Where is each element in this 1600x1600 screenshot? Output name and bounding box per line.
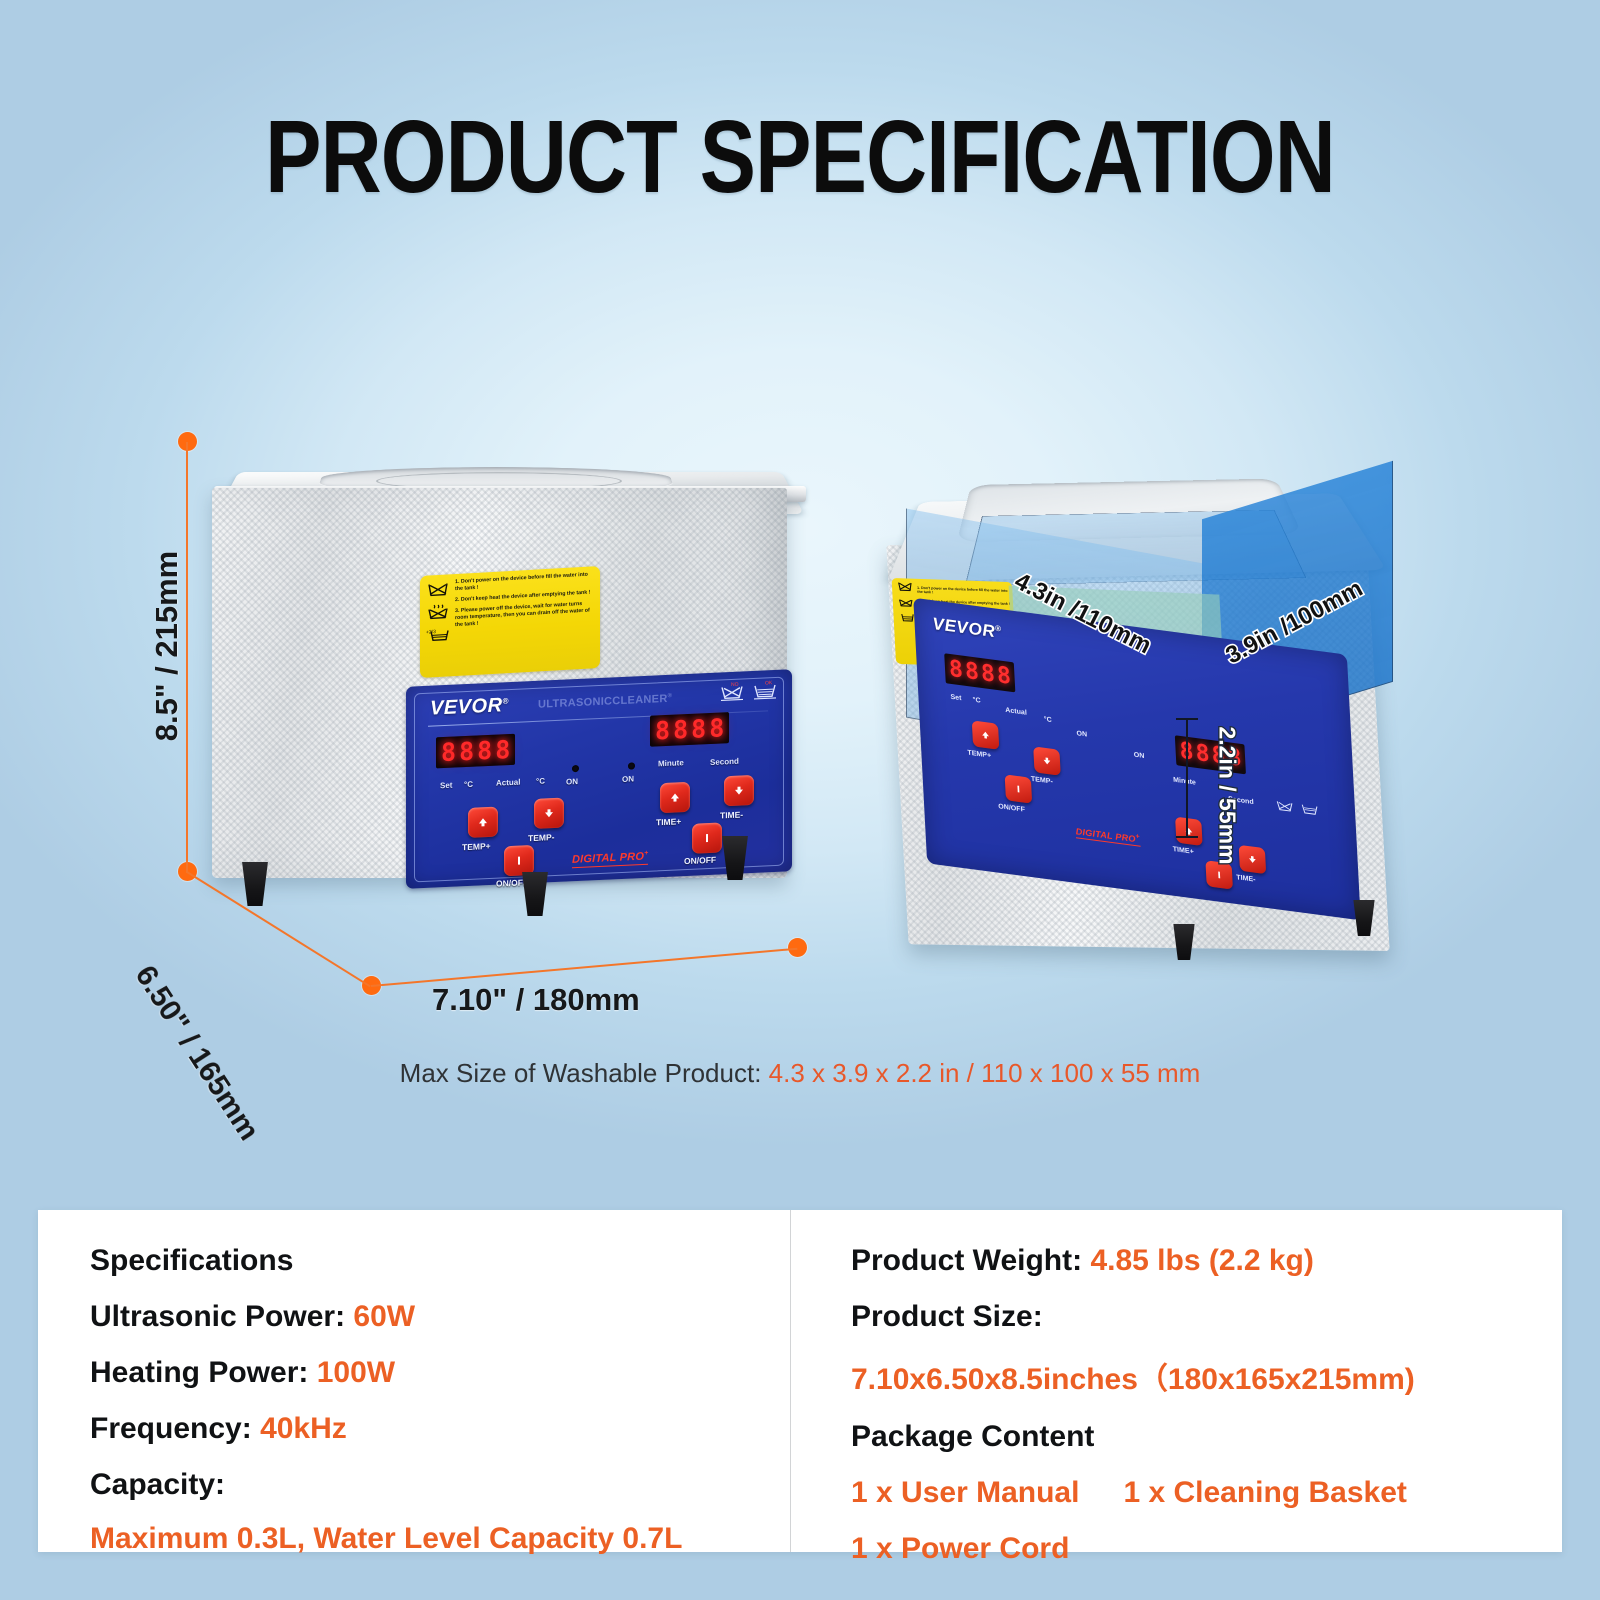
label-actual-right: Actual: [1005, 707, 1027, 717]
arrow-down-icon: [733, 784, 745, 797]
label-actual-unit-right: °C: [1044, 716, 1052, 724]
tank-depth-tick-top: [1176, 718, 1198, 720]
arrow-up-icon: [669, 791, 681, 804]
warning-text: 1. Don't power on the device before fill…: [455, 571, 596, 676]
product-weight-label: Product Weight:: [851, 1244, 1082, 1277]
product-size-label: Product Size:: [851, 1300, 1562, 1334]
specs-column-right: Product Weight: 4.85 lbs (2.2 kg) Produc…: [790, 1210, 1562, 1552]
panel-basket-icons-right: [1275, 796, 1320, 818]
label-actual: Actual: [496, 778, 520, 788]
label-on-left-right: ON: [1076, 730, 1087, 738]
power-left-label-right: ON/OFF: [998, 803, 1025, 814]
timer-digit-2-right: 8: [1195, 740, 1210, 768]
label-set: Set: [440, 781, 452, 791]
water-level-basket-icon: [898, 611, 915, 623]
frequency-row: Frequency: 40kHz: [90, 1412, 790, 1446]
arrow-up-icon: [980, 729, 991, 740]
label-set-unit-right: °C: [973, 697, 981, 705]
brand-logo-right: VEVOR®: [932, 614, 1002, 643]
temp-up-button-right[interactable]: [972, 720, 1000, 749]
time-up-label-right: TIME+: [1173, 846, 1194, 856]
label-on-left: ON: [566, 777, 578, 787]
capacity-label: Capacity:: [90, 1468, 790, 1502]
ok-basket-panel-icon: OK: [752, 678, 778, 701]
package-item-2: 1 x Power Cord: [851, 1532, 1562, 1566]
label-on-right: ON: [622, 774, 634, 784]
capacity-value: Maximum 0.3L, Water Level Capacity 0.7L: [90, 1522, 790, 1556]
temp-digit-1: 8: [441, 739, 456, 765]
depth-dimension-label: 6.50" / 165mm: [128, 960, 266, 1147]
warning-line-3: 3. Please power off the device, wait for…: [455, 600, 596, 629]
label-minute: Minute: [658, 758, 684, 768]
right-product-image: 1. Don't power on the device before fill…: [880, 368, 1440, 1048]
tank-body: +2/3 1. Don't power on the device before…: [212, 488, 787, 878]
time-down-button[interactable]: [724, 775, 754, 806]
temperature-display: 8 8 8 8: [436, 734, 515, 769]
width-dimension-label: 7.10" / 180mm: [432, 982, 640, 1018]
warning-icon-group: +2/3: [424, 579, 452, 678]
product-weight-row: Product Weight: 4.85 lbs (2.2 kg): [851, 1244, 1562, 1278]
power-right-label: ON/OFF: [684, 855, 716, 866]
ok-basket-panel-icon: [1300, 799, 1320, 818]
package-item-0: 1 x User Manual: [851, 1476, 1079, 1510]
product-type-label: ULTRASONICCLEANER®: [538, 693, 672, 711]
ultrasonic-power-row: Ultrasonic Power: 60W: [90, 1300, 790, 1334]
no-basket-panel-icon: NO: [719, 679, 745, 702]
temp-up-label-right: TEMP+: [967, 750, 991, 760]
foot-left: [238, 862, 272, 906]
power-icon: [1214, 869, 1225, 880]
power-icon: [701, 832, 713, 845]
label-on-right-right: ON: [1134, 752, 1145, 760]
power-left-button[interactable]: [504, 845, 534, 876]
tank-depth-line: [1186, 718, 1188, 836]
temp-down-button[interactable]: [534, 798, 564, 829]
heating-power-label: Heating Power:: [90, 1356, 308, 1389]
temp-down-label: TEMP-: [528, 832, 554, 843]
power-icon: [513, 854, 525, 867]
caption-value: 4.3 x 3.9 x 2.2 in / 110 x 100 x 55 mm: [769, 1058, 1201, 1088]
svg-text:NO: NO: [731, 682, 739, 688]
specs-heading: Specifications: [90, 1244, 790, 1278]
arrow-down-icon: [1042, 755, 1053, 766]
time-up-button[interactable]: [660, 782, 690, 813]
product-size-value: 7.10x6.50x8.5inches（180x165x215mm): [851, 1354, 1562, 1398]
ultrasonic-power-label: Ultrasonic Power:: [90, 1300, 345, 1333]
label-actual-unit: °C: [536, 776, 545, 785]
power-icon: [1013, 783, 1024, 794]
ultrasonic-power-value: 60W: [353, 1300, 415, 1333]
no-heat-basket-icon: [427, 603, 449, 620]
series-badge: DIGITAL PRO+: [572, 850, 648, 868]
power-right-button-right[interactable]: [1205, 860, 1233, 889]
tank-depth-label: 2.2in / 55mm: [1214, 726, 1241, 864]
temp-digit-2: 8: [459, 739, 474, 765]
foot-center: [518, 872, 552, 916]
package-content-heading: Package Content: [851, 1420, 1562, 1454]
series-badge-right: DIGITAL PRO+: [1075, 825, 1140, 846]
no-basket-icon: [427, 581, 449, 598]
ultrasonic-indicator-led: [628, 762, 635, 769]
label-set-unit: °C: [464, 780, 473, 789]
timer-digit-4: 8: [709, 715, 724, 741]
temp-up-button[interactable]: [468, 807, 498, 838]
heat-indicator-led: [572, 765, 579, 772]
temp-up-label: TEMP+: [462, 841, 491, 852]
warning-line-1-right: 1. Don't power on the device before fill…: [917, 585, 1010, 598]
temp-digit-4: 8: [495, 737, 510, 763]
temp-digit-4-right: 8: [996, 662, 1011, 690]
timer-digit-2: 8: [673, 717, 688, 743]
time-down-label-right: TIME-: [1236, 874, 1256, 884]
temperature-display-right: 8 8 8 8: [944, 653, 1016, 692]
package-items-row-1: 1 x User Manual 1 x Cleaning Basket: [851, 1476, 1562, 1510]
frequency-label: Frequency:: [90, 1412, 252, 1445]
timer-digit-3: 8: [691, 716, 706, 742]
time-up-button-right[interactable]: [1175, 817, 1203, 846]
no-basket-panel-icon: [1275, 796, 1295, 815]
temp-digit-3: 8: [477, 738, 492, 764]
panel-basket-icons: NO OK: [719, 678, 778, 703]
temp-digit-2-right: 8: [964, 658, 979, 686]
time-down-label: TIME-: [720, 809, 743, 820]
no-heat-basket-icon: [898, 596, 915, 608]
no-basket-icon: [897, 581, 914, 593]
specifications-panel: Specifications Ultrasonic Power: 60W Hea…: [38, 1210, 1562, 1552]
height-dimension-line: [186, 442, 188, 873]
temp-digit-3-right: 8: [980, 660, 995, 688]
washable-size-caption: Max Size of Washable Product: 4.3 x 3.9 …: [0, 1058, 1600, 1089]
arrow-up-icon: [477, 816, 489, 829]
height-dimension-label: 8.5" / 215mm: [149, 551, 185, 741]
arrow-down-icon: [1247, 854, 1258, 865]
label-set-right: Set: [950, 694, 961, 702]
label-second: Second: [710, 757, 739, 767]
time-down-button-right[interactable]: [1239, 845, 1267, 874]
package-item-1: 1 x Cleaning Basket: [1123, 1476, 1406, 1510]
heating-power-value: 100W: [317, 1356, 395, 1389]
timer-digit-1: 8: [655, 718, 670, 744]
power-right-button[interactable]: [692, 822, 722, 853]
power-left-button-right[interactable]: [1005, 774, 1033, 803]
svg-text:OK: OK: [765, 680, 773, 686]
page-title: PRODUCT SPECIFICATION: [144, 98, 1456, 216]
product-weight-value: 4.85 lbs (2.2 kg): [1090, 1244, 1313, 1277]
heating-power-row: Heating Power: 100W: [90, 1356, 790, 1390]
temp-digit-1-right: 8: [948, 656, 963, 684]
label-minute-right: Minute: [1173, 777, 1196, 787]
tank-depth-tick-bottom: [1176, 836, 1198, 838]
timer-display: 8 8 8 8: [650, 712, 729, 747]
left-product-image: +2/3 1. Don't power on the device before…: [196, 430, 808, 950]
brand-logo: VEVOR®: [430, 694, 509, 721]
time-up-label: TIME+: [656, 816, 681, 827]
water-level-basket-icon: +2/3: [426, 625, 450, 642]
product-specification-page: PRODUCT SPECIFICATION: [0, 0, 1600, 1600]
frequency-value: 40kHz: [260, 1412, 347, 1445]
temp-down-button-right[interactable]: [1033, 746, 1061, 775]
specs-column-left: Specifications Ultrasonic Power: 60W Hea…: [38, 1210, 790, 1552]
warning-sticker: +2/3 1. Don't power on the device before…: [420, 566, 600, 678]
caption-label: Max Size of Washable Product:: [400, 1058, 762, 1088]
temp-down-label-right: TEMP-: [1031, 776, 1053, 786]
arrow-down-icon: [543, 807, 555, 820]
